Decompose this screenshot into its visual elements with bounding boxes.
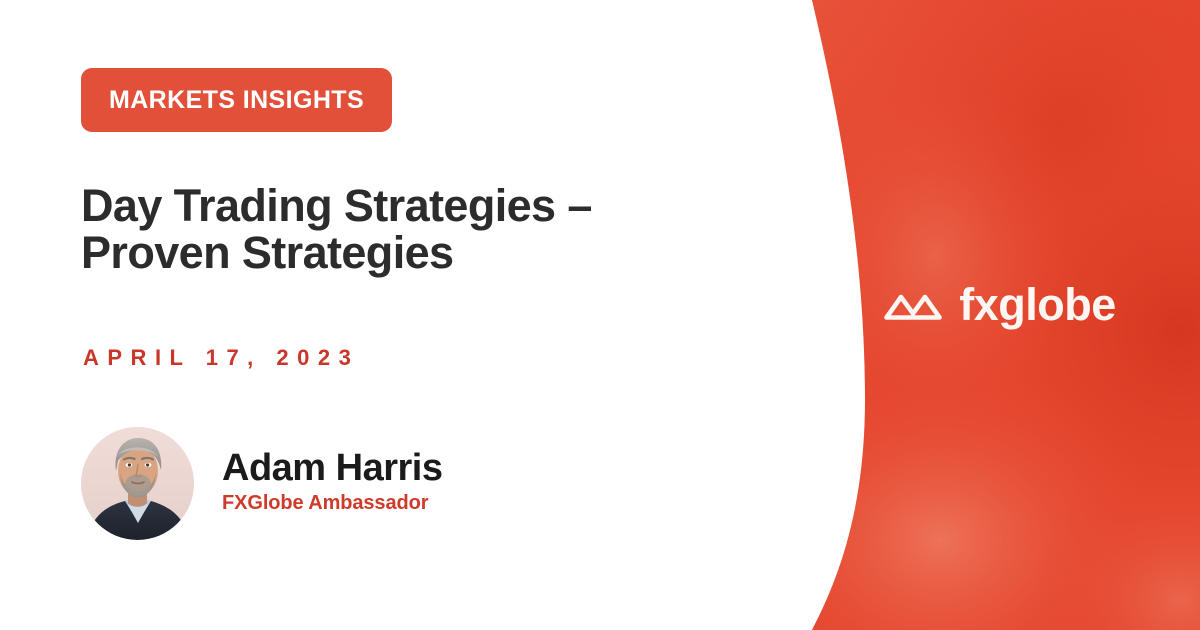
avatar-portrait-image: [81, 427, 194, 540]
author-role: FXGlobe Ambassador: [222, 492, 428, 514]
author-block: Adam Harris FXGlobe Ambassador: [81, 427, 442, 540]
author-meta: Adam Harris FXGlobe Ambassador: [222, 449, 442, 518]
page-title: Day Trading Strategies – Proven Strategi…: [81, 183, 701, 277]
author-name: Adam Harris: [222, 449, 442, 489]
mountain-peaks-icon: [884, 286, 942, 326]
brand-panel: fxglobe: [800, 0, 1200, 630]
markets-insights-card: fxglobe MARKETS INSIGHTS Day Trading Str…: [0, 0, 1200, 630]
article-content: MARKETS INSIGHTS Day Trading Strategies …: [81, 0, 741, 630]
publish-date: APRIL 17, 2023: [83, 345, 359, 371]
category-badge[interactable]: MARKETS INSIGHTS: [81, 68, 392, 132]
avatar: [81, 427, 194, 540]
fxglobe-logo-text: fxglobe: [959, 282, 1116, 327]
fxglobe-logo: fxglobe: [800, 283, 1200, 328]
